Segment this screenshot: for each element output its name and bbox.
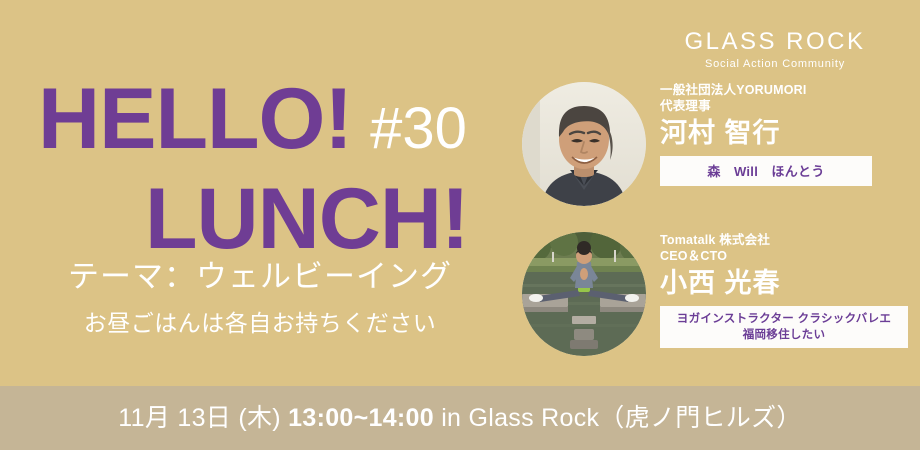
speaker-card-1: 一般社団法人YORUMORI 代表理事 河村 智行 森 Will ほんとう bbox=[0, 82, 920, 222]
speaker-card-2: Tomatalk 株式会社 CEO＆CTO 小西 光春 ヨガインストラクター ク… bbox=[0, 232, 920, 372]
speaker-2-text: Tomatalk 株式会社 CEO＆CTO 小西 光春 ヨガインストラクター ク… bbox=[660, 232, 910, 348]
speaker-1-org-line-2: 代表理事 bbox=[660, 98, 910, 114]
person-splits-outdoor-icon bbox=[522, 232, 646, 356]
logo-tagline: Social Action Community bbox=[640, 57, 910, 72]
speaker-2-org-line-1: Tomatalk 株式会社 bbox=[660, 232, 910, 248]
speaker-2-org-line-2: CEO＆CTO bbox=[660, 248, 910, 264]
speaker-1-org-line-1: 一般社団法人YORUMORI bbox=[660, 82, 910, 98]
speaker-1-name: 河村 智行 bbox=[660, 117, 910, 150]
footer-band: 11月 13日 (木) 13:00~14:00 in Glass Rock（虎ノ… bbox=[0, 386, 920, 450]
speaker-2-tags-line-2: 福岡移住したい bbox=[677, 327, 891, 343]
speaker-2-tags-line-1: ヨガインストラクター クラシックバレエ bbox=[677, 313, 891, 325]
speaker-2-tags: ヨガインストラクター クラシックバレエ 福岡移住したい bbox=[677, 311, 891, 343]
footer-location: in Glass Rock（虎ノ門ヒルズ） bbox=[441, 404, 802, 432]
speaker-1-tags: 森 Will ほんとう bbox=[707, 163, 824, 180]
footer-date: 11月 13日 (木) bbox=[118, 404, 281, 432]
footer-time: 13:00~14:00 bbox=[288, 404, 434, 432]
footer-details: 11月 13日 (木) 13:00~14:00 in Glass Rock（虎ノ… bbox=[118, 403, 801, 433]
speaker-1-avatar bbox=[522, 82, 646, 206]
speaker-2-avatar bbox=[522, 232, 646, 356]
speaker-1-text: 一般社団法人YORUMORI 代表理事 河村 智行 森 Will ほんとう bbox=[660, 82, 910, 186]
logo-wordmark: GLASS ROCK bbox=[640, 28, 910, 56]
glass-rock-logo: GLASS ROCK Social Action Community bbox=[640, 28, 910, 72]
speaker-2-tag-box: ヨガインストラクター クラシックバレエ 福岡移住したい bbox=[660, 306, 908, 348]
portrait-man-icon bbox=[522, 82, 646, 206]
speaker-2-name: 小西 光春 bbox=[660, 267, 910, 300]
event-poster: HELLO! #30 LUNCH! テーマ：ウェルビーイング お昼ごはんは各自お… bbox=[0, 0, 920, 450]
speaker-1-tag-box: 森 Will ほんとう bbox=[660, 156, 872, 186]
